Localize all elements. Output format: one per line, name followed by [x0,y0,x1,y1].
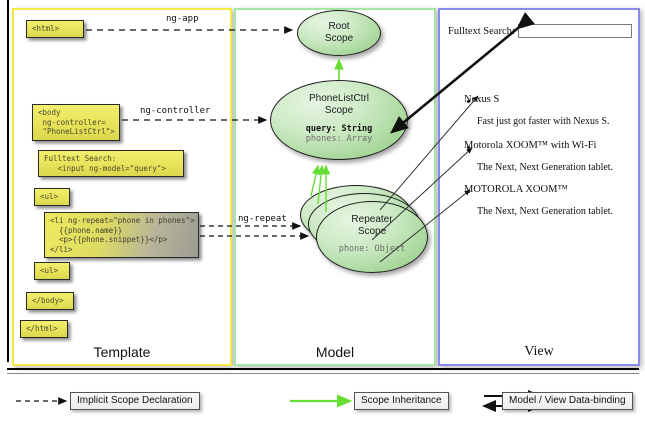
template-box-body-close[interactable]: </body> [26,292,74,310]
template-box-search[interactable]: Fulltext Search: <input ng-model="query"… [38,150,184,177]
panel-model-label: Model [236,344,434,360]
prop-phones: phones: Array [271,134,407,144]
view-item-snippet: The Next, Next Generation tablet. [477,206,613,217]
legend-item-implicit-scope-declaration: Implicit Scope Declaration [70,392,200,410]
template-box-body-open[interactable]: <body ng-controller= "PhoneListCtrl"> [32,104,120,141]
root-scope-title: RootScope [298,21,380,44]
view-item-name: Nexus S [464,94,499,105]
connector-label-ng-app: ng-app [166,14,199,24]
view-search-input[interactable] [518,24,632,38]
view-item-snippet: Fast just got faster with Nexus S. [477,116,610,127]
legend-item-scope-inheritance: Scope Inheritance [354,392,449,410]
template-box-ul-close[interactable]: <ul> [34,262,70,280]
model-root-scope[interactable]: RootScope [297,10,381,56]
panel-view: Fulltext Search: Nexus S Fast just got f… [438,8,640,366]
phonelistctrl-scope-title: PhoneListCtrlScope [271,93,407,116]
model-phonelistctrl-scope[interactable]: PhoneListCtrlScope query: String phones:… [270,80,408,160]
phonelistctrl-scope-props: query: String phones: Array [271,124,407,144]
legend-item-model-view-data-binding: Model / View Data-binding [502,392,633,410]
view-item-snippet: The Next, Next Generation tablet. [477,162,613,173]
connector-label-ng-controller: ng-controller [140,106,210,116]
connector-label-ng-repeat: ng-repeat [238,214,287,224]
view-search-label: Fulltext Search: [448,26,515,37]
template-box-html-open[interactable]: <html> [26,20,84,38]
prop-query: query: String [271,124,407,134]
panel-template-label: Template [14,344,230,360]
view-item-name: Motorola XOOM™ with Wi-Fi [464,140,596,151]
prop-phone: phone: Object [317,244,427,254]
panel-view-label: View [440,344,638,360]
view-item-name: MOTOROLA XOOM™ [464,184,568,195]
repeater-scope-title: RepeaterScope [317,214,427,237]
repeater-scope-props: phone: Object [317,244,427,254]
diagram-canvas: Template <html> <body ng-controller= "Ph… [0,0,645,425]
template-box-ul-open[interactable]: <ul> [34,188,70,206]
legend-divider [7,368,639,374]
model-repeater-scope[interactable]: RepeaterScope phone: Object [316,201,428,273]
panel-template: Template [12,8,232,366]
template-box-li-repeat[interactable]: <li ng-repeat="phone in phones"> {{phone… [44,212,199,258]
frame-left-edge [7,0,9,362]
template-box-html-close[interactable]: </html> [20,320,68,338]
